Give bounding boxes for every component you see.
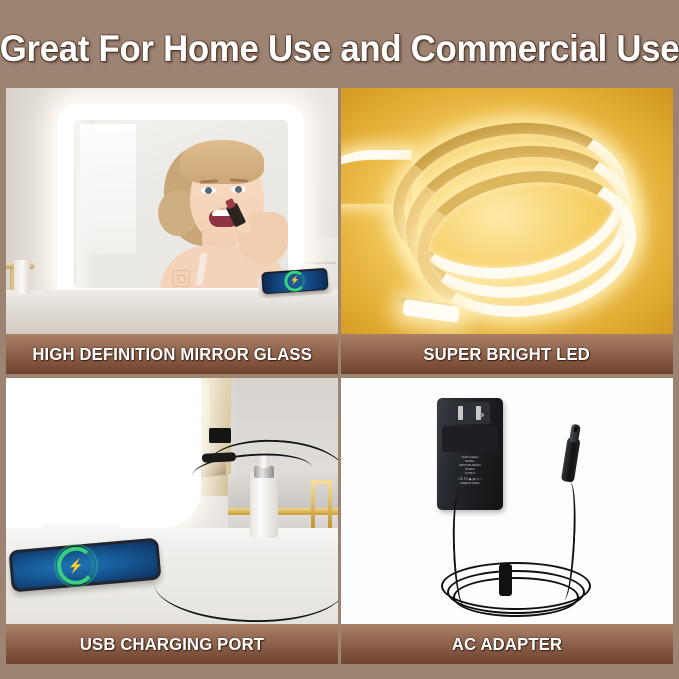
smartphone: ⚡: [261, 268, 328, 295]
cable-connector: [202, 452, 236, 463]
feature-card-usb-charging-port[interactable]: ⚡ USB CHARGING PORT: [6, 378, 338, 664]
glass-bottle: [14, 260, 30, 294]
hair-top: [180, 140, 264, 184]
led-strip-photo: [341, 88, 673, 334]
feature-caption-super-bright-led: SUPER BRIGHT LED: [341, 334, 673, 374]
cord-tie: [499, 564, 512, 596]
prong-left: [458, 406, 463, 420]
white-backdrop: AC/DC Adapter MODEL: INPUT:100-240VAC 50…: [341, 378, 673, 624]
mirror-glass-surface: [74, 120, 288, 288]
bathroom-scene: ⚡: [6, 88, 338, 334]
mirror-inner-corner: [6, 378, 184, 511]
feature-caption-ac-adapter-label: AC ADAPTER: [452, 634, 562, 655]
vanity-counter-scene: ⚡: [6, 378, 338, 624]
eye-right: [231, 186, 246, 193]
feature-caption-mirror-glass: HIGH DEFINITION MIRROR GLASS: [6, 334, 338, 374]
feature-card-ac-adapter[interactable]: AC/DC Adapter MODEL: INPUT:100-240VAC 50…: [341, 378, 673, 664]
plug-barrel: [561, 437, 581, 482]
feature-caption-super-bright-led-label: SUPER BRIGHT LED: [424, 344, 591, 365]
mirror-glass-photo: ⚡: [6, 88, 338, 334]
ac-adapter-photo: AC/DC Adapter MODEL: INPUT:100-240VAC 50…: [341, 378, 673, 624]
feature-card-high-definition-mirror-glass[interactable]: ⚡ HIGH DEFINITION MIRROR GLASS: [6, 88, 338, 374]
page-title: Great For Home Use and Commercial Use: [20, 22, 658, 76]
touch-sensor-icon: [173, 270, 190, 287]
feature-caption-mirror-glass-label: HIGH DEFINITION MIRROR GLASS: [32, 344, 312, 365]
adapter-spec-label: AC/DC Adapter MODEL: INPUT:100-240VAC 50…: [443, 456, 497, 504]
adapter-front-recess: [442, 426, 498, 452]
charging-bolt-icon: ⚡: [290, 277, 301, 286]
feature-caption-ac-adapter: AC ADAPTER: [341, 624, 673, 664]
dc-barrel-plug: [558, 423, 584, 487]
prong-screw: [480, 413, 484, 417]
vanity-counter: [6, 290, 338, 334]
led-strip-coil: [370, 102, 643, 320]
cord-loop-3: [453, 577, 579, 617]
wall-plug-prongs: [450, 402, 490, 424]
product-feature-collage: Great For Home Use and Commercial Use: [0, 0, 679, 679]
feature-card-super-bright-led[interactable]: SUPER BRIGHT LED: [341, 88, 673, 374]
adapter-label-line-6: MADE IN CHINA: [443, 482, 497, 486]
feature-caption-usb-charging-port-label: USB CHARGING PORT: [80, 634, 264, 655]
usb-plug: [209, 428, 231, 443]
usb-charging-photo: ⚡: [6, 378, 338, 624]
charging-bolt-icon: ⚡: [67, 559, 84, 573]
wireless-charging-phone: ⚡: [261, 268, 331, 299]
eye-left: [201, 187, 216, 194]
adapter-label-line-5: OUTPUT:: [443, 472, 497, 476]
feature-grid: ⚡ HIGH DEFINITION MIRROR GLASS: [6, 88, 673, 664]
led-mirror-corner: [6, 378, 201, 528]
ac-adapter-brick: AC/DC Adapter MODEL: INPUT:100-240VAC 50…: [437, 398, 503, 510]
window-reflection: [80, 124, 136, 254]
woman-reflection: [154, 134, 288, 288]
feature-caption-usb-charging-port: USB CHARGING PORT: [6, 624, 338, 664]
led-scene: [341, 88, 673, 334]
